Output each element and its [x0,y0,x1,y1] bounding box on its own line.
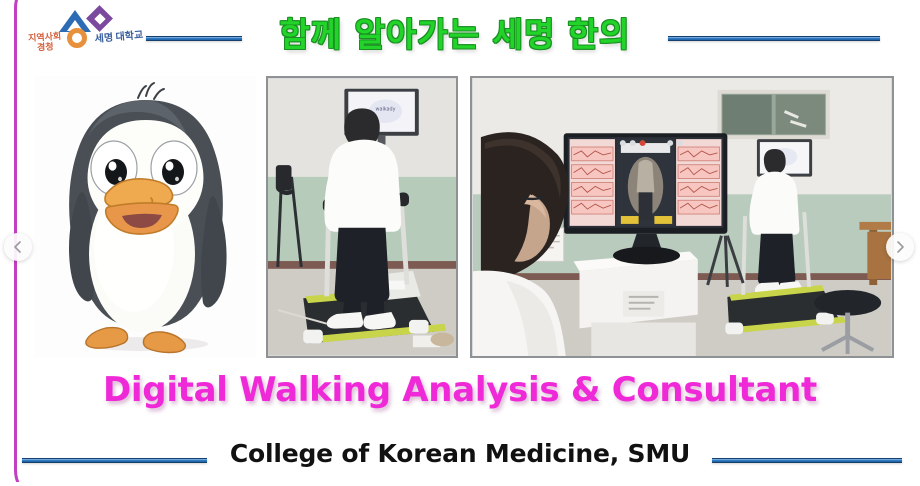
slide-header: 지역사회 경청 세명 대학교 함께 알아가는 세명 한의 [0,0,920,72]
chevron-left-icon [11,240,25,254]
headline-text: Digital Walking Analysis & Consultant [0,370,920,410]
photo-treadmill-walk: walkady [266,76,458,358]
chevron-right-icon [893,240,907,254]
svg-text:walkady: walkady [375,106,395,112]
logo-text-left: 지역사회 경청 [23,31,66,54]
photo-treadmill-walk-svg: walkady [268,78,456,356]
media-row: walkady [0,74,920,360]
subline-rule-right [712,458,902,463]
photo-gait-analysis-room-svg [472,78,892,356]
subline-text: College of Korean Medicine, SMU [0,439,920,468]
logo-text-right: 세명 대학교 [90,29,149,45]
title-rule-left [146,36,242,41]
penguin-illustration [34,76,256,358]
university-logo: 지역사회 경청 세명 대학교 [24,6,149,68]
carousel-next-button[interactable] [886,233,914,261]
logo-circle-icon [67,28,87,48]
title-rule-right [668,36,880,41]
carousel-prev-button[interactable] [4,233,32,261]
slide-title: 함께 알아가는 세명 한의 [245,8,665,56]
presentation-slide: 지역사회 경청 세명 대학교 함께 알아가는 세명 한의 [0,0,920,486]
frame-mask-bottom [0,482,920,486]
penguin-svg [34,76,256,358]
photo-gait-analysis-room [470,76,894,358]
